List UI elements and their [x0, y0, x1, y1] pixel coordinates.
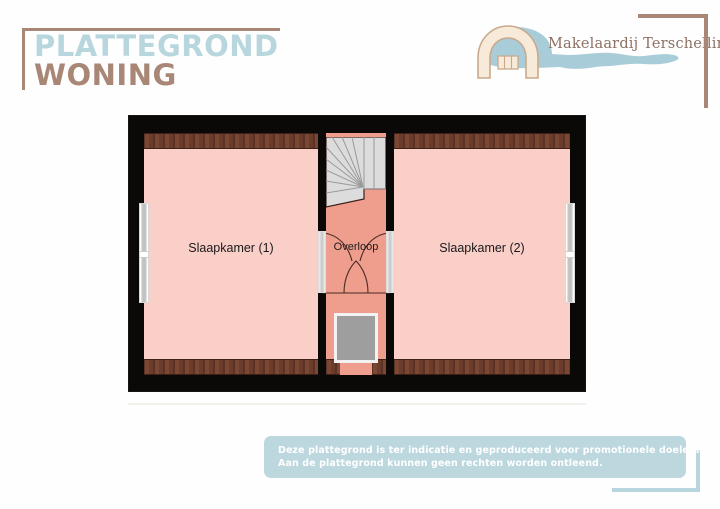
barn-house-icon	[474, 22, 542, 80]
disclaimer-text-line-2: Aan de plattegrond kunnen geen rechten w…	[278, 458, 603, 469]
room-label-slaapkamer-1: Slaapkamer (1)	[144, 241, 318, 255]
roof-tiles-top-right	[394, 133, 570, 149]
door-swing-arcs	[318, 227, 394, 299]
room-label-slaapkamer-2: Slaapkamer (2)	[394, 241, 570, 255]
plan-divider-line	[128, 403, 586, 405]
floorplan-drawing: Slaapkamer (1) Overloop Slaapkamer (2)	[128, 115, 586, 392]
page-title-secondary: WONING	[34, 60, 177, 90]
disclaimer-box: Deze plattegrond is ter indicatie en gep…	[264, 436, 686, 478]
skylight-roof-window	[334, 313, 378, 363]
page-title-block: PLATTEGROND WONING	[22, 28, 282, 90]
roof-tiles-top-left	[144, 133, 318, 149]
logo-bracket-decoration	[638, 14, 708, 108]
staircase-icon	[326, 137, 386, 219]
disclaimer-text-line-1: Deze plattegrond is ter indicatie en gep…	[278, 445, 720, 456]
page-title-primary: PLATTEGROND	[34, 31, 279, 61]
roof-tiles-bottom-right	[394, 359, 570, 375]
room-label-overloop: Overloop	[324, 241, 388, 253]
roof-tiles-bottom-left	[144, 359, 318, 375]
